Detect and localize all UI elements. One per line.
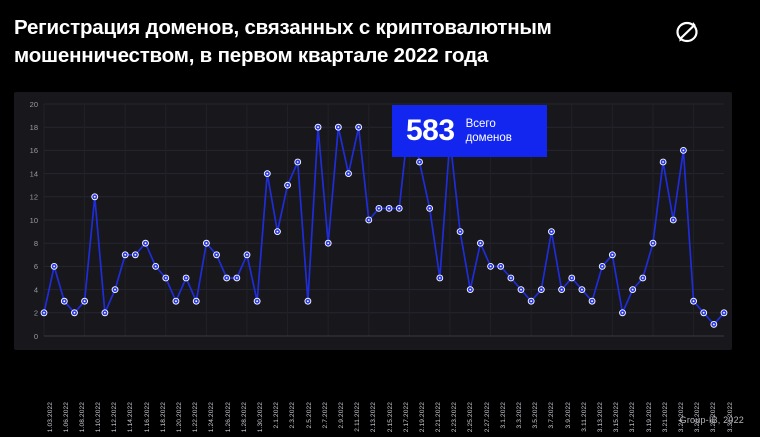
svg-text:20: 20 [30, 100, 38, 109]
x-axis-label: 1.30.2022 [257, 402, 264, 432]
svg-text:10: 10 [30, 216, 38, 225]
svg-text:6: 6 [34, 262, 38, 271]
x-axis-label: 2.21.2022 [435, 402, 442, 432]
header: Регистрация доменов, связанных с криптов… [14, 14, 704, 70]
svg-text:2: 2 [34, 309, 38, 318]
badge-number: 583 [406, 116, 455, 146]
x-axis-label: 1.14.2022 [127, 402, 134, 432]
x-axis-label: 3.15.2022 [613, 402, 620, 432]
x-axis-label: 2.3.2022 [289, 402, 296, 428]
x-axis-label: 2.15.2022 [387, 402, 394, 432]
svg-text:0: 0 [34, 332, 38, 341]
x-axis-label: 1.20.2022 [176, 402, 183, 432]
x-axis-label: 2.1.2022 [273, 402, 280, 428]
page-title: Регистрация доменов, связанных с криптов… [14, 14, 552, 70]
x-axis-label: 2.5.2022 [306, 402, 313, 428]
x-axis-label: 3.5.2022 [532, 402, 539, 428]
x-axis-label: 2.9.2022 [338, 402, 345, 428]
x-axis-label: 2.25.2022 [467, 402, 474, 432]
x-axis-label: 2.19.2022 [419, 402, 426, 432]
x-axis-label: 1.06.2022 [63, 402, 70, 432]
line-chart: 02468101214161820 [14, 92, 732, 350]
x-axis-label: 1.24.2022 [208, 402, 215, 432]
x-axis-label: 3.19.2022 [646, 402, 653, 432]
x-axis-label: 3.7.2022 [548, 402, 555, 428]
x-axis-label: 3.13.2022 [597, 402, 604, 432]
x-axis-label: 1.16.2022 [144, 402, 151, 432]
svg-text:4: 4 [34, 285, 38, 294]
svg-text:16: 16 [30, 146, 38, 155]
svg-text:14: 14 [30, 169, 38, 178]
group-ib-logo-icon [670, 16, 704, 50]
x-axis-label: 2.17.2022 [403, 402, 410, 432]
x-axis-label: 3.3.2022 [516, 402, 523, 428]
x-axis-label: 3.21.2022 [662, 402, 669, 432]
chart-plot-area: 02468101214161820 [14, 92, 732, 350]
x-axis-label: 1.08.2022 [79, 402, 86, 432]
x-axis-label: 3.17.2022 [629, 402, 636, 432]
x-axis-label: 1.12.2022 [111, 402, 118, 432]
footer-credit: Group-IB, 2022 [680, 415, 744, 425]
total-domains-badge: 583 Всего доменов [392, 105, 547, 157]
x-axis-label: 3.1.2022 [500, 402, 507, 428]
x-axis-label: 3.11.2022 [581, 402, 588, 432]
x-axis-label: 2.27.2022 [484, 402, 491, 432]
badge-label: Всего доменов [466, 117, 512, 145]
svg-text:12: 12 [30, 193, 38, 202]
infographic-page: Регистрация доменов, связанных с криптов… [0, 0, 760, 437]
x-axis-label: 2.23.2022 [451, 402, 458, 432]
x-axis-labels: 1.03.20221.06.20221.08.20221.10.20221.12… [14, 350, 732, 406]
x-axis-label: 2.13.2022 [370, 402, 377, 432]
svg-text:8: 8 [34, 239, 38, 248]
x-axis-label: 2.7.2022 [322, 402, 329, 428]
x-axis-label: 1.10.2022 [95, 402, 102, 432]
x-axis-label: 1.03.2022 [47, 402, 54, 432]
x-axis-label: 1.18.2022 [160, 402, 167, 432]
x-axis-label: 3.9.2022 [565, 402, 572, 428]
x-axis-label: 2.11.2022 [354, 402, 361, 432]
x-axis-label: 1.26.2022 [225, 402, 232, 432]
x-axis-label: 1.28.2022 [241, 402, 248, 432]
x-axis-label: 1.22.2022 [192, 402, 199, 432]
svg-text:18: 18 [30, 123, 38, 132]
